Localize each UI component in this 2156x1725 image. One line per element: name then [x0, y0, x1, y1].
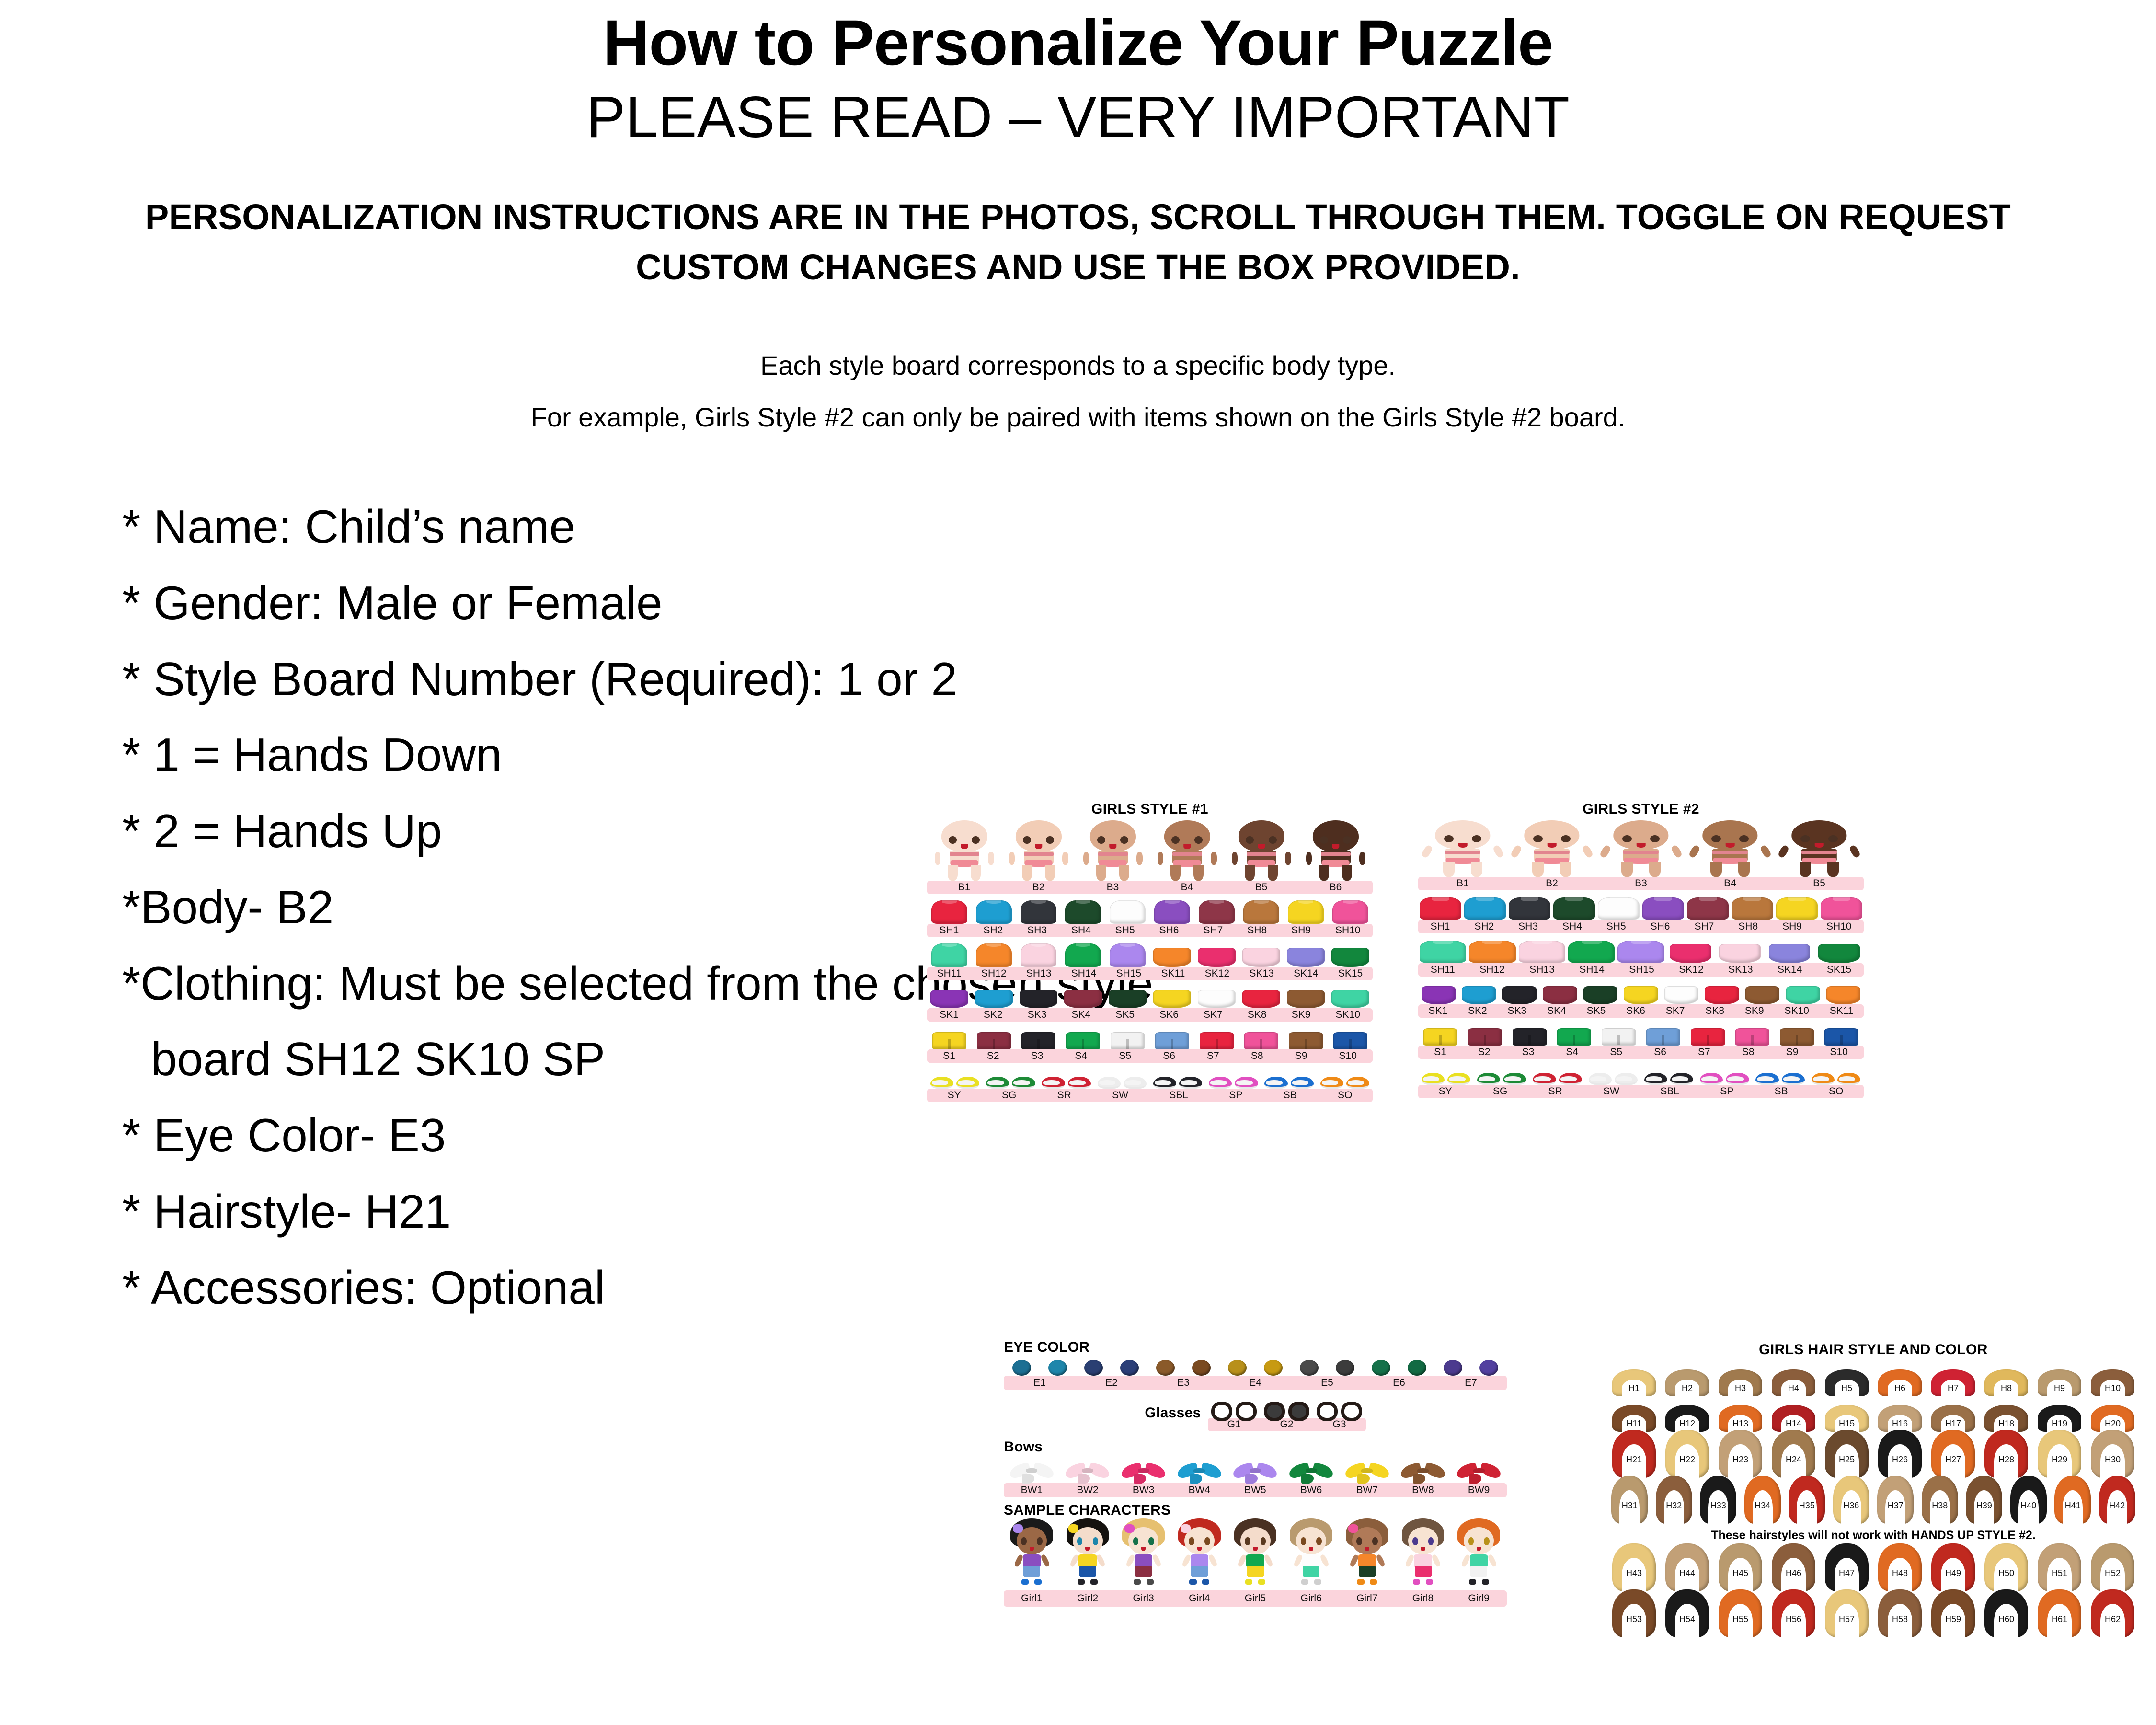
shorts-cell[interactable] [1463, 1018, 1507, 1046]
hair-swatch-cell[interactable]: H24 [1767, 1432, 1820, 1478]
shorts-cell[interactable] [1239, 1022, 1284, 1049]
eye-color-swatch[interactable] [1255, 1356, 1291, 1376]
b2-s-label: S7 [1698, 1046, 1710, 1058]
eye-color-swatch[interactable] [1004, 1356, 1040, 1376]
hair-swatch-cell[interactable]: H20 [2086, 1396, 2139, 1432]
shirt-cell[interactable] [1468, 933, 1517, 963]
hair-swatch-cell[interactable]: H3 [1714, 1361, 1767, 1396]
skirt-cell[interactable] [1150, 937, 1194, 967]
b1-s-label: S4 [1075, 1050, 1088, 1062]
eye-color-swatch[interactable] [1147, 1356, 1183, 1376]
b2-sh1 [1418, 890, 1864, 920]
hair-swatch-cell[interactable]: H7 [1927, 1361, 1980, 1396]
skirt-cell[interactable] [1621, 977, 1662, 1004]
bow-swatches [1004, 1455, 1507, 1483]
shirt-cell[interactable] [1016, 894, 1061, 924]
glasses-item[interactable] [1313, 1395, 1366, 1418]
skirt-cell[interactable] [1105, 980, 1150, 1008]
hair-label: H9 [2038, 1383, 2081, 1393]
bow-cell[interactable] [1395, 1455, 1451, 1483]
hair-swatch-cell[interactable]: H30 [2086, 1432, 2139, 1478]
hair-swatch-cell[interactable]: H29 [2033, 1432, 2086, 1478]
leg-right [1471, 862, 1482, 877]
shorts-cell[interactable] [1686, 1018, 1730, 1046]
shirt-cell[interactable] [972, 894, 1016, 924]
hair-swatch-cell[interactable]: H49 [1927, 1545, 1980, 1591]
skirt-cell[interactable] [1284, 937, 1328, 967]
eye-color-swatch[interactable] [1471, 1356, 1507, 1376]
hair-swatch-cell[interactable]: H8 [1980, 1361, 2033, 1396]
bow-cell[interactable] [1339, 1455, 1395, 1483]
b1-shoe-label: SBL [1169, 1090, 1188, 1101]
skirt-cell[interactable] [1715, 933, 1765, 963]
eye-left-icon [949, 836, 957, 844]
shirt-cell[interactable] [927, 894, 972, 924]
shorts-cell[interactable] [1328, 1022, 1373, 1049]
hair-swatch-cell[interactable]: H53 [1607, 1591, 1661, 1637]
sample-character-cell[interactable] [1060, 1518, 1116, 1590]
shoe-cell[interactable] [1474, 1059, 1529, 1085]
hair-swatch-cell[interactable]: H61 [2033, 1591, 2086, 1637]
b1-sh1-label: SH2 [983, 925, 1003, 936]
skirt-cell[interactable] [1765, 933, 1814, 963]
hair-swatch-cell[interactable]: H28 [1980, 1432, 2033, 1478]
hair-swatch: H54 [1665, 1589, 1709, 1637]
shoe-cell[interactable] [1094, 1063, 1150, 1089]
skirt-item [1242, 948, 1280, 967]
hair-swatch-cell[interactable]: H55 [1714, 1591, 1767, 1637]
hair-swatch-cell[interactable]: H5 [1820, 1361, 1873, 1396]
arm-left [1421, 844, 1433, 859]
eye-color-swatch[interactable] [1219, 1356, 1255, 1376]
skirt-cell[interactable] [1284, 980, 1328, 1008]
hair-swatch-cell[interactable]: H46 [1767, 1545, 1820, 1591]
shorts-cell[interactable] [1730, 1018, 1775, 1046]
hair-swatch-cell[interactable]: H16 [1873, 1396, 1927, 1432]
skirt-cell[interactable] [1016, 980, 1061, 1008]
sample-character-cell[interactable] [1451, 1518, 1507, 1590]
hair-swatch-cell[interactable]: H43 [1607, 1545, 1661, 1591]
hair-swatch: H22 [1665, 1430, 1709, 1478]
shorts-item [1735, 1028, 1769, 1046]
hair-swatch: H47 [1825, 1543, 1869, 1591]
eye-color-swatch[interactable] [1291, 1356, 1327, 1376]
hair-swatch-cell[interactable]: H2 [1661, 1361, 1714, 1396]
hair-swatch-cell[interactable]: H35 [1785, 1478, 1829, 1524]
shirt-item [976, 943, 1012, 967]
skirt-cell[interactable] [972, 980, 1016, 1008]
shirt-cell[interactable] [972, 937, 1016, 967]
b2-sh2-label: SH14 [1579, 964, 1605, 976]
eye-color-swatch[interactable] [1435, 1356, 1471, 1376]
shirt-cell[interactable] [1016, 937, 1061, 967]
body-figure-cell[interactable] [1775, 820, 1864, 877]
hair-swatch-cell[interactable]: H36 [1829, 1478, 1874, 1524]
hair-row-1: H1H2H3H4H5H6H7H8H9H10 [1607, 1361, 2139, 1396]
shoe-cell[interactable] [1261, 1063, 1317, 1089]
shoe-cell[interactable] [1697, 1059, 1752, 1085]
shirt-cell[interactable] [1463, 890, 1507, 920]
sample-character-cell[interactable] [1227, 1518, 1284, 1590]
shirt-cell[interactable] [1284, 894, 1328, 924]
sample-character-label-strip: Girl1Girl2Girl3Girl4Girl5Girl6Girl7Girl8… [1004, 1590, 1507, 1607]
hair-swatch-cell[interactable]: H23 [1714, 1432, 1767, 1478]
shirt-cell[interactable] [1061, 937, 1105, 967]
hair-swatch: H27 [1931, 1430, 1975, 1478]
skirt-cell[interactable] [1061, 980, 1105, 1008]
shoe-cell[interactable] [1418, 1059, 1474, 1085]
shorts-cell[interactable] [1596, 1018, 1641, 1046]
shirt-cell[interactable] [1730, 890, 1775, 920]
shoe-cell[interactable] [1808, 1059, 1864, 1085]
shorts-cell[interactable] [927, 1022, 972, 1049]
bow-cell[interactable] [1227, 1455, 1284, 1483]
shirt-cell[interactable] [1239, 894, 1284, 924]
hair-swatch-cell[interactable]: H56 [1767, 1591, 1820, 1637]
eye-color-swatch[interactable] [1399, 1356, 1435, 1376]
hair-swatch-cell[interactable]: H40 [2007, 1478, 2051, 1524]
sample-character-cell[interactable] [1171, 1518, 1227, 1590]
shoe-cell[interactable] [1039, 1063, 1094, 1089]
body-figure-cell[interactable] [1418, 820, 1507, 877]
shirt-cell[interactable] [1819, 890, 1864, 920]
hair-swatch: H9 [2038, 1369, 2081, 1396]
bow-icon [1068, 1524, 1078, 1533]
leg-right [1268, 865, 1277, 881]
shirt-cell[interactable] [1775, 890, 1819, 920]
hair-swatch-cell[interactable]: H10 [2086, 1361, 2139, 1396]
hair-swatch-cell[interactable]: H60 [1980, 1591, 2033, 1637]
hair-swatch: H45 [1719, 1543, 1762, 1591]
top [1191, 1554, 1208, 1567]
shirt-item [1469, 941, 1515, 963]
b2-shoe-label: SP [1720, 1086, 1733, 1097]
sample-character-cell[interactable] [1283, 1518, 1339, 1590]
shirt-cell[interactable] [1150, 894, 1194, 924]
skirt-cell[interactable] [1239, 980, 1284, 1008]
body-figure-cell[interactable] [1076, 820, 1150, 881]
hair-swatch-cell[interactable]: H12 [1661, 1396, 1714, 1432]
bow-cell[interactable] [1115, 1455, 1171, 1483]
body-figure-cell[interactable] [1224, 820, 1298, 881]
skirt-cell[interactable] [1814, 933, 1864, 963]
shorts-cell[interactable] [1507, 1018, 1552, 1046]
b2-sh2-label-strip: SH11SH12SH13SH14SH15SK12SK13SK14SK15 [1418, 963, 1864, 977]
shirt-cell[interactable] [1641, 890, 1686, 920]
body-figure-cell[interactable] [927, 820, 1001, 881]
hair-swatch: H52 [2091, 1543, 2134, 1591]
leg-left [1710, 862, 1722, 877]
skirt-cell[interactable] [1742, 977, 1783, 1004]
b1-body-label: B1 [958, 882, 971, 893]
bra [1623, 851, 1659, 854]
page-subtitle: PLEASE READ – VERY IMPORTANT [0, 86, 2156, 148]
shorts-cell[interactable] [1819, 1018, 1864, 1046]
hair-swatch-cell[interactable]: H31 [1607, 1478, 1652, 1524]
shorts-cell[interactable] [1775, 1018, 1819, 1046]
hair-label: H22 [1665, 1455, 1709, 1465]
shorts-item [977, 1032, 1011, 1049]
hair-swatch-cell[interactable]: H47 [1820, 1545, 1873, 1591]
skirt-cell[interactable] [1239, 937, 1284, 967]
b1-sk3-label: SK8 [1248, 1009, 1267, 1021]
shirt-cell[interactable] [1567, 933, 1616, 963]
shirt-item [1687, 897, 1729, 920]
hair-swatch-cell[interactable]: H22 [1661, 1432, 1714, 1478]
eye-color-swatch[interactable] [1363, 1356, 1399, 1376]
body-figure-cell[interactable] [1686, 820, 1775, 877]
hair-swatch: H40 [2010, 1476, 2047, 1524]
hair-swatch-cell[interactable]: H13 [1714, 1396, 1767, 1432]
hair-swatch-cell[interactable]: H11 [1607, 1396, 1661, 1432]
bra [1801, 851, 1837, 854]
top [1023, 1554, 1041, 1567]
skirt-cell[interactable] [1783, 977, 1823, 1004]
shirt-cell[interactable] [1328, 894, 1373, 924]
sample-character [1171, 1518, 1227, 1590]
shoe-cell[interactable] [1585, 1059, 1641, 1085]
arm-right [1492, 844, 1504, 859]
hair-swatch-cell[interactable]: H15 [1820, 1396, 1873, 1432]
shirt-cell[interactable] [1616, 933, 1665, 963]
hair-swatch-cell[interactable]: H9 [2033, 1361, 2086, 1396]
shorts-cell[interactable] [1284, 1022, 1328, 1049]
girls-style-1-title: GIRLS STYLE #1 [927, 801, 1373, 817]
hair-swatch-cell[interactable]: H6 [1873, 1361, 1927, 1396]
bottom [1135, 1566, 1152, 1577]
hair-swatch-cell[interactable]: H41 [2051, 1478, 2095, 1524]
bottom [1023, 1566, 1040, 1577]
hair-label: H23 [1719, 1455, 1762, 1465]
hair-swatch-cell[interactable]: H52 [2086, 1545, 2139, 1591]
sample-character-cell[interactable] [1339, 1518, 1395, 1590]
shorts-cell[interactable] [1418, 1018, 1463, 1046]
eye-color-swatch[interactable] [1112, 1356, 1147, 1376]
skirt-cell[interactable] [1540, 977, 1581, 1004]
bottom [1079, 1566, 1096, 1577]
hair-swatch-cell[interactable]: H26 [1873, 1432, 1927, 1478]
shorts-cell[interactable] [972, 1022, 1016, 1049]
skirt-cell[interactable] [1823, 977, 1864, 1004]
skirt-cell[interactable] [927, 980, 972, 1008]
hair-swatch-cell[interactable]: H51 [2033, 1545, 2086, 1591]
shirt-cell[interactable] [1552, 890, 1596, 920]
eye-color-swatch[interactable] [1040, 1356, 1076, 1376]
shirt-cell[interactable] [1105, 894, 1150, 924]
shoe-item [1644, 1073, 1693, 1085]
b1-sk3-label: SK6 [1159, 1009, 1179, 1021]
sample-character-cell[interactable] [1004, 1518, 1060, 1590]
skirt-cell[interactable] [1194, 980, 1239, 1008]
eye-right-icon [1739, 835, 1749, 842]
bow-label: BW5 [1244, 1484, 1266, 1496]
hair-swatch-cell[interactable]: H58 [1873, 1591, 1927, 1637]
b2-sh2-label: SK13 [1728, 964, 1753, 976]
hair-swatch-cell[interactable]: H27 [1927, 1432, 1980, 1478]
style2-shorts-row: S1S2S3S4S5S6S7S8S9S10 [1418, 1018, 1864, 1059]
hair-swatch-cell[interactable]: H18 [1980, 1396, 2033, 1432]
shirt-cell[interactable] [1194, 894, 1239, 924]
shorts-cell[interactable] [1641, 1018, 1686, 1046]
arm-right [1136, 852, 1142, 865]
skirt-item [1583, 986, 1617, 1004]
hair-swatch-cell[interactable]: H33 [1696, 1478, 1741, 1524]
arm-right [1759, 844, 1772, 859]
b2-s-label: S6 [1654, 1046, 1666, 1058]
b2-sh1-label: SH9 [1782, 921, 1802, 932]
hair-swatch-cell[interactable]: H62 [2086, 1591, 2139, 1637]
hair-swatch: H57 [1825, 1589, 1869, 1637]
hair-swatch-cell[interactable]: H39 [1962, 1478, 2007, 1524]
bow-cell[interactable] [1060, 1455, 1116, 1483]
hair-swatch-cell[interactable]: H19 [2033, 1396, 2086, 1432]
shirt-cell[interactable] [1105, 937, 1150, 967]
body-figure-cell[interactable] [1596, 820, 1686, 877]
body-figure-cell[interactable] [1001, 820, 1076, 881]
hair-label: H42 [2099, 1501, 2135, 1511]
eye-color-swatch[interactable] [1076, 1356, 1112, 1376]
top [1078, 1554, 1096, 1567]
hair-swatch-cell[interactable]: H59 [1927, 1591, 1980, 1637]
hair-swatch: H12 [1665, 1405, 1709, 1432]
hair-swatch-cell[interactable]: H54 [1661, 1591, 1714, 1637]
b1-s [927, 1022, 1373, 1049]
b1-sh2-label-strip: SH11SH12SH13SH14SH15SK11SK12SK13SK14SK15 [927, 967, 1373, 980]
eye-color-label: E3 [1177, 1377, 1190, 1389]
skirt-cell[interactable] [1666, 933, 1715, 963]
sample-character-label: Girl3 [1133, 1593, 1154, 1604]
sample-character-label: Girl5 [1245, 1593, 1266, 1604]
shoe-cell[interactable] [1150, 1063, 1205, 1089]
bow-cell[interactable] [1004, 1455, 1060, 1483]
leg-left [1319, 865, 1329, 881]
b1-s-label: S1 [943, 1050, 955, 1062]
mouth-icon [1183, 844, 1191, 849]
shorts-cell[interactable] [1194, 1022, 1239, 1049]
hair-swatch-cell[interactable]: H38 [1918, 1478, 1962, 1524]
hair-swatch-cell[interactable]: H44 [1661, 1545, 1714, 1591]
skirt-cell[interactable] [1661, 977, 1702, 1004]
glasses-item[interactable] [1208, 1395, 1261, 1418]
body-figure-cell[interactable] [1507, 820, 1596, 877]
b1-s-label: S3 [1031, 1050, 1044, 1062]
sample-character-cell[interactable] [1395, 1518, 1451, 1590]
shirt-cell[interactable] [1061, 894, 1105, 924]
skirt-cell[interactable] [1702, 977, 1743, 1004]
skirt-cell[interactable] [1328, 980, 1373, 1008]
shirt-cell[interactable] [1418, 933, 1468, 963]
bow-cell[interactable] [1283, 1455, 1339, 1483]
bow-cell[interactable] [1451, 1455, 1507, 1483]
shorts-item [1468, 1028, 1502, 1046]
hair-label: H1 [1612, 1383, 1656, 1393]
hair-swatch-cell[interactable]: H14 [1767, 1396, 1820, 1432]
glasses-item[interactable] [1261, 1395, 1313, 1418]
shirt-item [1519, 941, 1565, 963]
b1-s-label: S2 [987, 1050, 999, 1062]
arm-left [1599, 844, 1611, 859]
hair-label: H13 [1719, 1419, 1762, 1429]
shirt-cell[interactable] [927, 937, 972, 967]
skirt-cell[interactable] [1499, 977, 1540, 1004]
b2-sh2-label: SH11 [1431, 964, 1455, 976]
shirt-cell[interactable] [1686, 890, 1730, 920]
hair-swatch-cell[interactable]: H42 [2095, 1478, 2140, 1524]
shoe-cell[interactable] [1641, 1059, 1697, 1085]
hair-swatch-cell[interactable]: H21 [1607, 1432, 1661, 1478]
shirt-cell[interactable] [1517, 933, 1567, 963]
hair-label: H40 [2010, 1501, 2047, 1511]
hair-swatch-cell[interactable]: H45 [1714, 1545, 1767, 1591]
bow-icon [1181, 1524, 1191, 1533]
shorts-cell[interactable] [1552, 1018, 1596, 1046]
shirt-cell[interactable] [1507, 890, 1552, 920]
shorts-cell[interactable] [1061, 1022, 1105, 1049]
shirt-cell[interactable] [1596, 890, 1641, 920]
sample-character [1060, 1518, 1116, 1590]
skirt-cell[interactable] [1459, 977, 1500, 1004]
body-figure-cell[interactable] [1298, 820, 1373, 881]
b1-s-label: S10 [1339, 1050, 1357, 1062]
skirt-cell[interactable] [1150, 980, 1194, 1008]
shorts-cell[interactable] [1016, 1022, 1061, 1049]
shorts-cell[interactable] [1105, 1022, 1150, 1049]
hair-swatch-cell[interactable]: H4 [1767, 1361, 1820, 1396]
hair-swatch-cell[interactable]: H25 [1820, 1432, 1873, 1478]
body-figure-cell[interactable] [1150, 820, 1224, 881]
leg-left [1532, 862, 1544, 877]
hair-swatch-cell[interactable]: H34 [1741, 1478, 1785, 1524]
sample-character-label: Girl2 [1077, 1593, 1098, 1604]
skirt-cell[interactable] [1580, 977, 1621, 1004]
hair-swatch-cell[interactable]: H48 [1873, 1545, 1927, 1591]
shoe-item [1320, 1077, 1369, 1089]
eye-color-swatch[interactable] [1183, 1356, 1219, 1376]
shoe-cell[interactable] [927, 1063, 983, 1089]
shirt-cell[interactable] [1418, 890, 1463, 920]
hair-swatch-cell[interactable]: H37 [1873, 1478, 1918, 1524]
eye-color-swatch[interactable] [1327, 1356, 1363, 1376]
skirt-cell[interactable] [1194, 937, 1239, 967]
hair-swatch-cell[interactable]: H32 [1652, 1478, 1697, 1524]
shorts-cell[interactable] [1150, 1022, 1194, 1049]
shirt-item [1420, 897, 1462, 920]
b2-sh2-label: SH12 [1479, 964, 1505, 976]
skirt-cell[interactable] [1418, 977, 1459, 1004]
hair-swatch: H46 [1772, 1543, 1815, 1591]
shorts-item [1333, 1032, 1367, 1049]
skirt-cell[interactable] [1328, 937, 1373, 967]
bow-cell[interactable] [1171, 1455, 1227, 1483]
b1-sh1-label-strip: SH1SH2SH3SH4SH5SH6SH7SH8SH9SH10 [927, 924, 1373, 937]
shoe-cell[interactable] [1753, 1059, 1808, 1085]
shoe-cell[interactable] [1530, 1059, 1585, 1085]
b1-sh1-label: SH8 [1247, 925, 1267, 936]
hair-swatch-cell[interactable]: H57 [1820, 1591, 1873, 1637]
shoe-cell[interactable] [983, 1063, 1038, 1089]
sample-character-cell[interactable] [1115, 1518, 1171, 1590]
shorts-item [1200, 1032, 1234, 1049]
shoe-cell[interactable] [1205, 1063, 1261, 1089]
eye-right-icon [1828, 835, 1838, 842]
hair-swatch-cell[interactable]: H17 [1927, 1396, 1980, 1432]
hair-swatch-cell[interactable]: H1 [1607, 1361, 1661, 1396]
bow-label: BW1 [1021, 1484, 1043, 1496]
hair-swatch-cell[interactable]: H50 [1980, 1545, 2033, 1591]
shoe-cell[interactable] [1317, 1063, 1373, 1089]
hair-row-3: H21H22H23H24H25H26H27H28H29H30 [1607, 1432, 2139, 1478]
shorts-item [1244, 1032, 1278, 1049]
